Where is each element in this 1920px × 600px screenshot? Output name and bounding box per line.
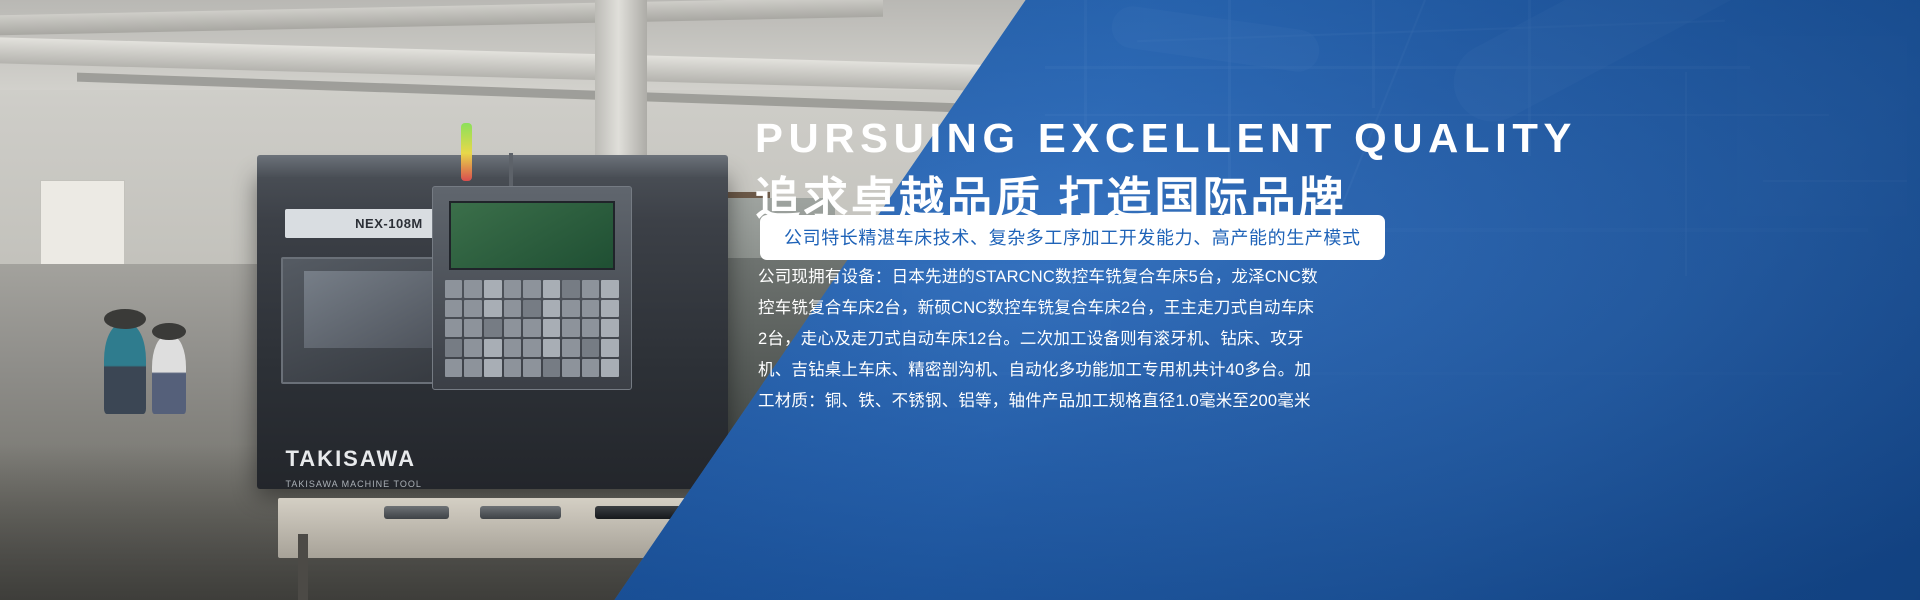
machine-model-label: NEX-108M (355, 216, 423, 231)
machine-brand-label: TAKISAWA (285, 446, 415, 472)
body-paragraph-wrap: 公司现拥有设备：日本先进的STARCNC数控车铣复合车床5台，龙泽CNC数控车铣… (758, 262, 1318, 417)
bench-leg-left (298, 534, 308, 600)
cnc-keypad (445, 280, 619, 377)
cnc-screen (449, 201, 615, 270)
subtitle-text: 公司特长精湛车床技术、复杂多工序加工开发能力、高产能的生产模式 (784, 228, 1361, 248)
machine-top-cover (257, 155, 727, 177)
signal-tower-lamp (461, 123, 472, 181)
wall-poster (40, 180, 124, 270)
worker-figure-2 (152, 336, 187, 414)
hero-banner: NEX-108M TAKISAWA TAKISAWA MACHINE TOOL (0, 0, 1920, 600)
machined-part-1 (384, 506, 449, 519)
worker-head-1 (104, 309, 146, 329)
headline-english: PURSUING EXCELLENT QUALITY (755, 115, 1577, 162)
body-paragraph: 公司现拥有设备：日本先进的STARCNC数控车铣复合车床5台，龙泽CNC数控车铣… (758, 262, 1318, 417)
cnc-control-panel (432, 186, 632, 390)
machine-brand-plate: TAKISAWA (285, 445, 567, 474)
worker-head-2 (152, 323, 187, 340)
machine-brand-sub: TAKISAWA MACHINE TOOL (285, 479, 421, 489)
machined-part-2 (480, 506, 561, 519)
banner-content: PURSUING EXCELLENT QUALITY 追求卓越品质 打造国际品牌… (755, 0, 1855, 600)
worker-figure-1 (104, 324, 146, 414)
subtitle-box: 公司特长精湛车床技术、复杂多工序加工开发能力、高产能的生产模式 (760, 215, 1385, 260)
